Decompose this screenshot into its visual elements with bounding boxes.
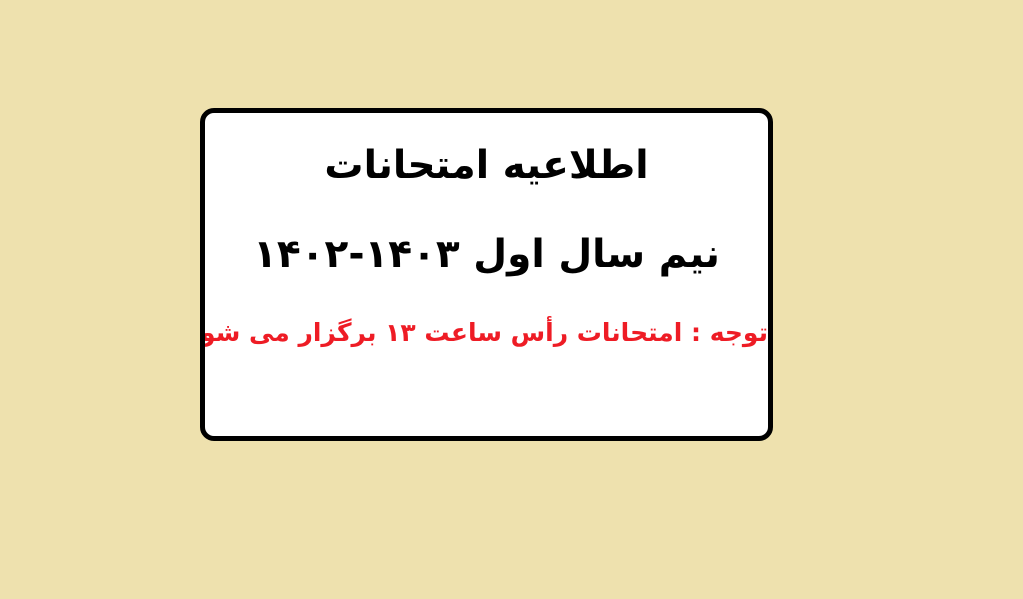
exam-notice-card: اطلاعیه امتحانات نیم سال اول ۱۴۰۳-۱۴۰۲ ت… bbox=[200, 108, 773, 441]
page-background: اطلاعیه امتحانات نیم سال اول ۱۴۰۳-۱۴۰۲ ت… bbox=[0, 0, 1023, 599]
notice-warning-text: توجه : امتحانات رأس ساعت ۱۳ برگزار می شو… bbox=[205, 319, 768, 347]
notice-term-subtitle: نیم سال اول ۱۴۰۳-۱۴۰۲ bbox=[205, 234, 768, 277]
notice-title: اطلاعیه امتحانات bbox=[205, 145, 768, 188]
